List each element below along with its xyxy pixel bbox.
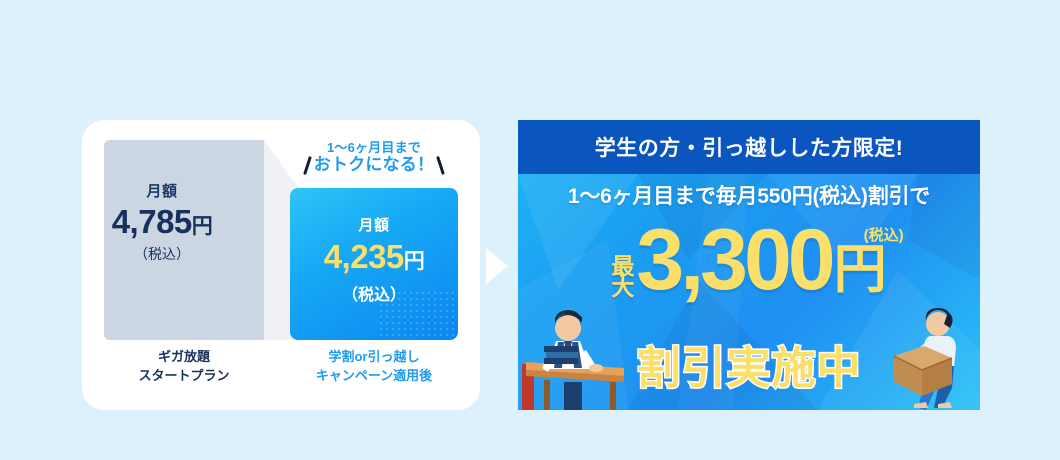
base-plan-monthly-label: 月額 — [82, 180, 242, 201]
base-plan-price-row: 4,785円 — [82, 203, 242, 241]
promo-price-row: 最大 3,300 (税込) 円 — [518, 220, 980, 302]
savings-callout-line1: 1〜6ヶ月目まで — [278, 140, 470, 155]
price-comparison-card: 月額 4,785円 （税込） 月額 4,235円 （税込） 1〜6ヶ月目まで お… — [82, 120, 480, 410]
promo-currency-wrap: (税込) 円 — [834, 246, 887, 294]
person-carrying-box-illustration — [880, 304, 974, 410]
discount-plan-price-value: 4,235 — [324, 238, 404, 275]
base-plan-currency: 円 — [192, 215, 213, 238]
savings-callout-line2: おトクになる！ — [314, 155, 434, 175]
promo-currency: 円 — [834, 240, 887, 299]
promo-subline: 1〜6ヶ月目まで毎月550円(税込)割引で — [518, 180, 980, 210]
base-plan-caption-line2: スタートプラン — [104, 367, 264, 386]
promo-header-strip: 学生の方・引っ越しした方限定! — [518, 120, 980, 174]
slash-left-icon — [303, 156, 311, 175]
base-plan-tax-note: （税込） — [82, 244, 242, 264]
promo-tax-note: (税込) — [864, 224, 904, 245]
discount-plan-caption-line1: 学割or引っ越し — [290, 348, 458, 367]
discount-plan-tax-note: （税込） — [290, 281, 458, 305]
discount-plan-price-block: 月額 4,235円 （税込） — [290, 214, 458, 305]
savings-callout: 1〜6ヶ月目まで おトクになる！ — [278, 140, 470, 175]
base-plan-price-block: 月額 4,785円 （税込） — [82, 180, 242, 264]
base-plan-caption: ギガ放題 スタートプラン — [104, 348, 264, 386]
savings-callout-line2-wrap: おトクになる！ — [278, 155, 470, 175]
slash-right-icon — [436, 156, 444, 175]
discount-plan-card: 月額 4,235円 （税込） — [290, 188, 458, 340]
promo-amount-value: 3,300 — [636, 220, 831, 302]
discount-plan-monthly-label: 月額 — [290, 214, 458, 235]
chevron-right-icon — [486, 248, 508, 284]
discount-plan-caption-line2: キャンペーン適用後 — [290, 367, 458, 386]
promo-header-text: 学生の方・引っ越しした方限定! — [595, 132, 904, 162]
discount-plan-caption: 学割or引っ越し キャンペーン適用後 — [290, 348, 458, 386]
student-at-desk-illustration — [520, 306, 628, 410]
discount-plan-currency: 円 — [404, 250, 425, 273]
discount-plan-price-row: 4,235円 — [290, 238, 458, 276]
promo-max-label: 最大 — [611, 256, 634, 299]
promo-banner: 学生の方・引っ越しした方限定! 1〜6ヶ月目まで毎月550円(税込)割引で 最大… — [518, 120, 980, 410]
promo-stage: 月額 4,785円 （税込） 月額 4,235円 （税込） 1〜6ヶ月目まで お… — [0, 0, 1060, 460]
base-plan-price-value: 4,785 — [112, 203, 192, 240]
base-plan-caption-line1: ギガ放題 — [104, 348, 264, 367]
